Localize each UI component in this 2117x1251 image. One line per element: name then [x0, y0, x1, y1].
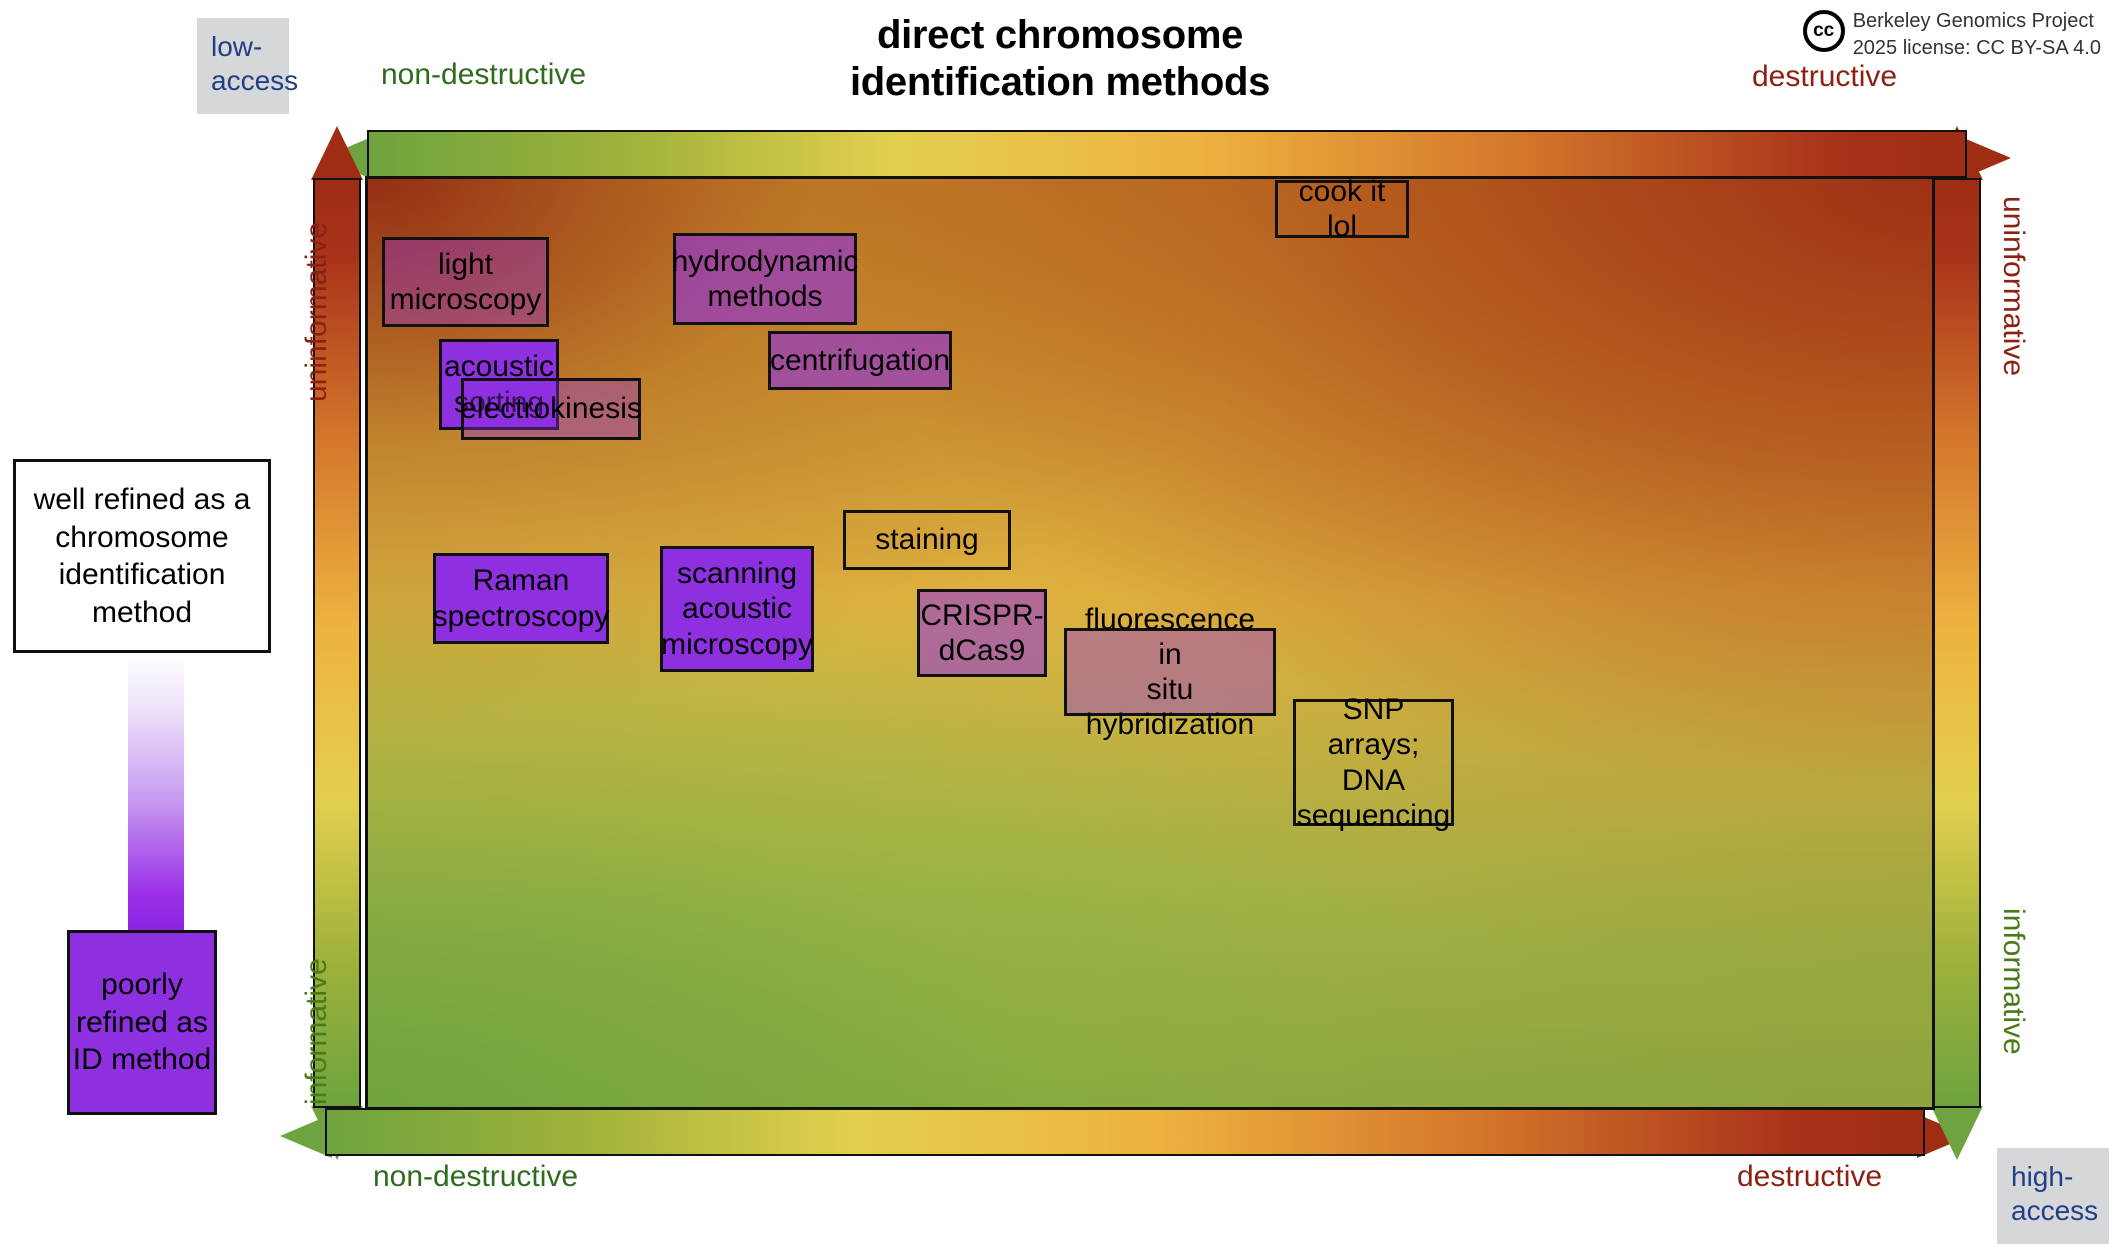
method-box-label-line: sequencing: [1297, 798, 1450, 833]
method-box-label-line: scanning: [661, 556, 813, 591]
method-box[interactable]: SNP arrays;DNAsequencing: [1293, 699, 1454, 826]
high-access-tag: high- access: [1997, 1148, 2109, 1244]
axis-label-top-non-destructive: non-destructive: [381, 58, 586, 92]
method-box-label-line: hydrodynamic: [672, 244, 859, 279]
method-box-label-line: situ hybridization: [1075, 672, 1265, 742]
method-box[interactable]: staining: [843, 510, 1011, 570]
credit-line-1: Berkeley Genomics Project: [1853, 8, 2101, 35]
method-box[interactable]: cook it lol: [1275, 180, 1409, 238]
method-box-label: fluorescence insitu hybridization: [1075, 602, 1265, 742]
method-box[interactable]: hydrodynamicmethods: [673, 233, 857, 325]
method-box[interactable]: electrokinesis: [461, 378, 641, 440]
method-box-label-line: cook it lol: [1286, 176, 1398, 244]
axis-label-bottom-destructive: destructive: [1737, 1160, 1882, 1194]
axis-label-right-informative: informative: [1996, 908, 2030, 1055]
title-line-2: identification methods: [690, 59, 1430, 106]
method-box[interactable]: fluorescence insitu hybridization: [1064, 628, 1276, 716]
axis-label-right-uninformative: uninformative: [1996, 196, 2030, 376]
method-box-label: Ramanspectroscopy: [433, 563, 610, 633]
high-access-line-1: high-: [2011, 1160, 2095, 1194]
method-box-label-line: spectroscopy: [433, 599, 610, 634]
top-axis-bar: [367, 130, 1967, 178]
method-box[interactable]: scanningacousticmicroscopy: [660, 546, 814, 672]
low-access-line-2: access: [211, 64, 275, 98]
method-box-label: hydrodynamicmethods: [672, 244, 859, 314]
method-box[interactable]: centrifugation: [768, 331, 952, 390]
plot-area: lightmicroscopyhydrodynamicmethodscentri…: [365, 176, 1935, 1110]
method-box-label-line: methods: [672, 279, 859, 314]
method-box-label-line: dCas9: [920, 633, 1043, 668]
method-box[interactable]: lightmicroscopy: [382, 237, 549, 327]
title-line-1: direct chromosome: [690, 12, 1430, 59]
method-box-label: lightmicroscopy: [390, 247, 542, 317]
high-access-line-2: access: [2011, 1194, 2095, 1228]
method-box-label: CRISPR-dCas9: [920, 598, 1043, 668]
low-access-tag: low- access: [197, 18, 289, 114]
axis-label-left-uninformative: uninformative: [300, 222, 334, 402]
method-box[interactable]: Ramanspectroscopy: [433, 553, 609, 644]
legend-poorly-refined-box: poorly refined as ID method: [67, 930, 217, 1115]
method-box-label: cook it lol: [1286, 176, 1398, 244]
credit-text: Berkeley Genomics Project 2025 license: …: [1853, 8, 2101, 62]
bottom-axis-bar: [325, 1108, 1925, 1156]
method-box-label-line: DNA: [1297, 763, 1450, 798]
method-box-label-line: electrokinesis: [460, 391, 642, 426]
credit-block: cc Berkeley Genomics Project 2025 licens…: [1803, 8, 2101, 62]
creative-commons-icon: cc: [1803, 10, 1845, 52]
legend-well-refined-box: well refined as a chromosome identificat…: [13, 459, 271, 653]
method-box-label-line: Raman: [433, 563, 610, 598]
method-box-label-line: centrifugation: [770, 343, 950, 378]
method-box-label-line: fluorescence in: [1075, 602, 1265, 672]
credit-line-2: 2025 license: CC BY-SA 4.0: [1853, 35, 2101, 62]
low-access-line-1: low-: [211, 30, 275, 64]
axis-label-top-destructive: destructive: [1752, 60, 1897, 94]
method-box-label: SNP arrays;DNAsequencing: [1297, 692, 1450, 832]
axis-label-left-informative: informative: [300, 958, 334, 1105]
method-box-label-line: microscopy: [661, 627, 813, 662]
method-box-label-line: staining: [875, 522, 978, 557]
right-axis-bar: [1933, 178, 1981, 1108]
axis-label-bottom-non-destructive: non-destructive: [373, 1160, 578, 1194]
page-title: direct chromosome identification methods: [690, 12, 1430, 106]
method-box-label-line: SNP arrays;: [1297, 692, 1450, 762]
method-box-label: electrokinesis: [460, 391, 642, 426]
method-box[interactable]: CRISPR-dCas9: [917, 589, 1047, 677]
method-box-label: staining: [875, 522, 978, 557]
legend-gradient-bar: [128, 653, 184, 933]
method-box-label-line: CRISPR-: [920, 598, 1043, 633]
method-box-label-line: light: [390, 247, 542, 282]
method-box-label-line: acoustic: [661, 591, 813, 626]
method-box-label-line: microscopy: [390, 282, 542, 317]
arrow-up-red-left-icon: [311, 126, 363, 180]
method-box-label: centrifugation: [770, 343, 950, 378]
method-box-label: scanningacousticmicroscopy: [661, 556, 813, 661]
arrow-down-green-right-icon: [1931, 1106, 1983, 1160]
